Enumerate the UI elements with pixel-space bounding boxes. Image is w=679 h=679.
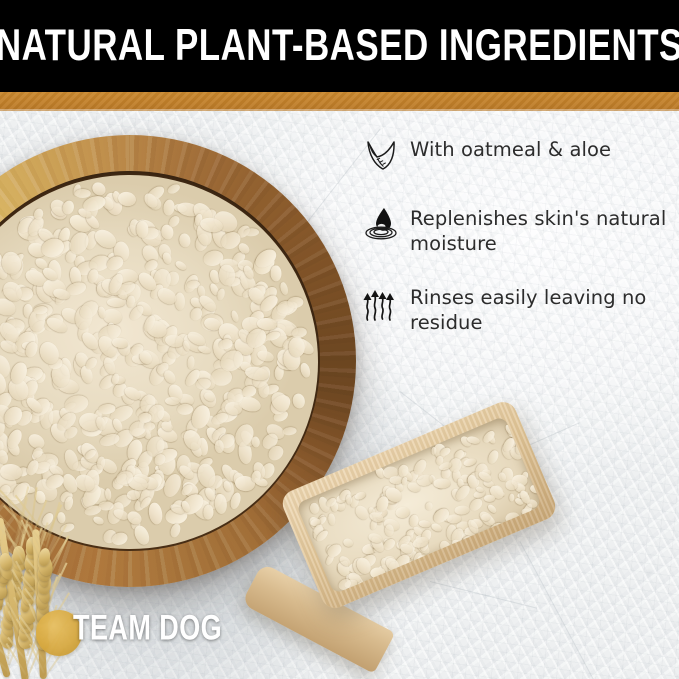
list-item-label: Replenishes skin's natural moisture xyxy=(410,201,672,257)
list-item-label: With oatmeal & aloe xyxy=(410,132,611,162)
wooden-scoop xyxy=(255,416,585,679)
aloe-leaf-icon xyxy=(360,132,402,178)
list-item: Replenishes skin's natural moisture xyxy=(360,201,672,257)
brand-name: TEAM DOG xyxy=(73,612,222,647)
brand-logo: TEAM DOG xyxy=(36,606,266,664)
list-item: With oatmeal & aloe xyxy=(360,132,672,178)
feature-list: With oatmeal & aloe Replenishes skin's n… xyxy=(360,132,672,358)
page-title: NATURAL PLANT-BASED INGREDIENTS xyxy=(0,24,679,69)
list-item-label: Rinses easily leaving no residue xyxy=(410,280,672,336)
water-droplet-icon xyxy=(360,201,402,247)
list-item: Rinses easily leaving no residue xyxy=(360,280,672,336)
rinse-arrows-icon xyxy=(360,280,402,326)
product-feature-card: NATURAL PLANT-BASED INGREDIENTS With oat… xyxy=(0,0,679,679)
scoop-body xyxy=(278,398,559,612)
header-banner: NATURAL PLANT-BASED INGREDIENTS xyxy=(0,0,679,92)
accent-stripe xyxy=(0,92,679,111)
